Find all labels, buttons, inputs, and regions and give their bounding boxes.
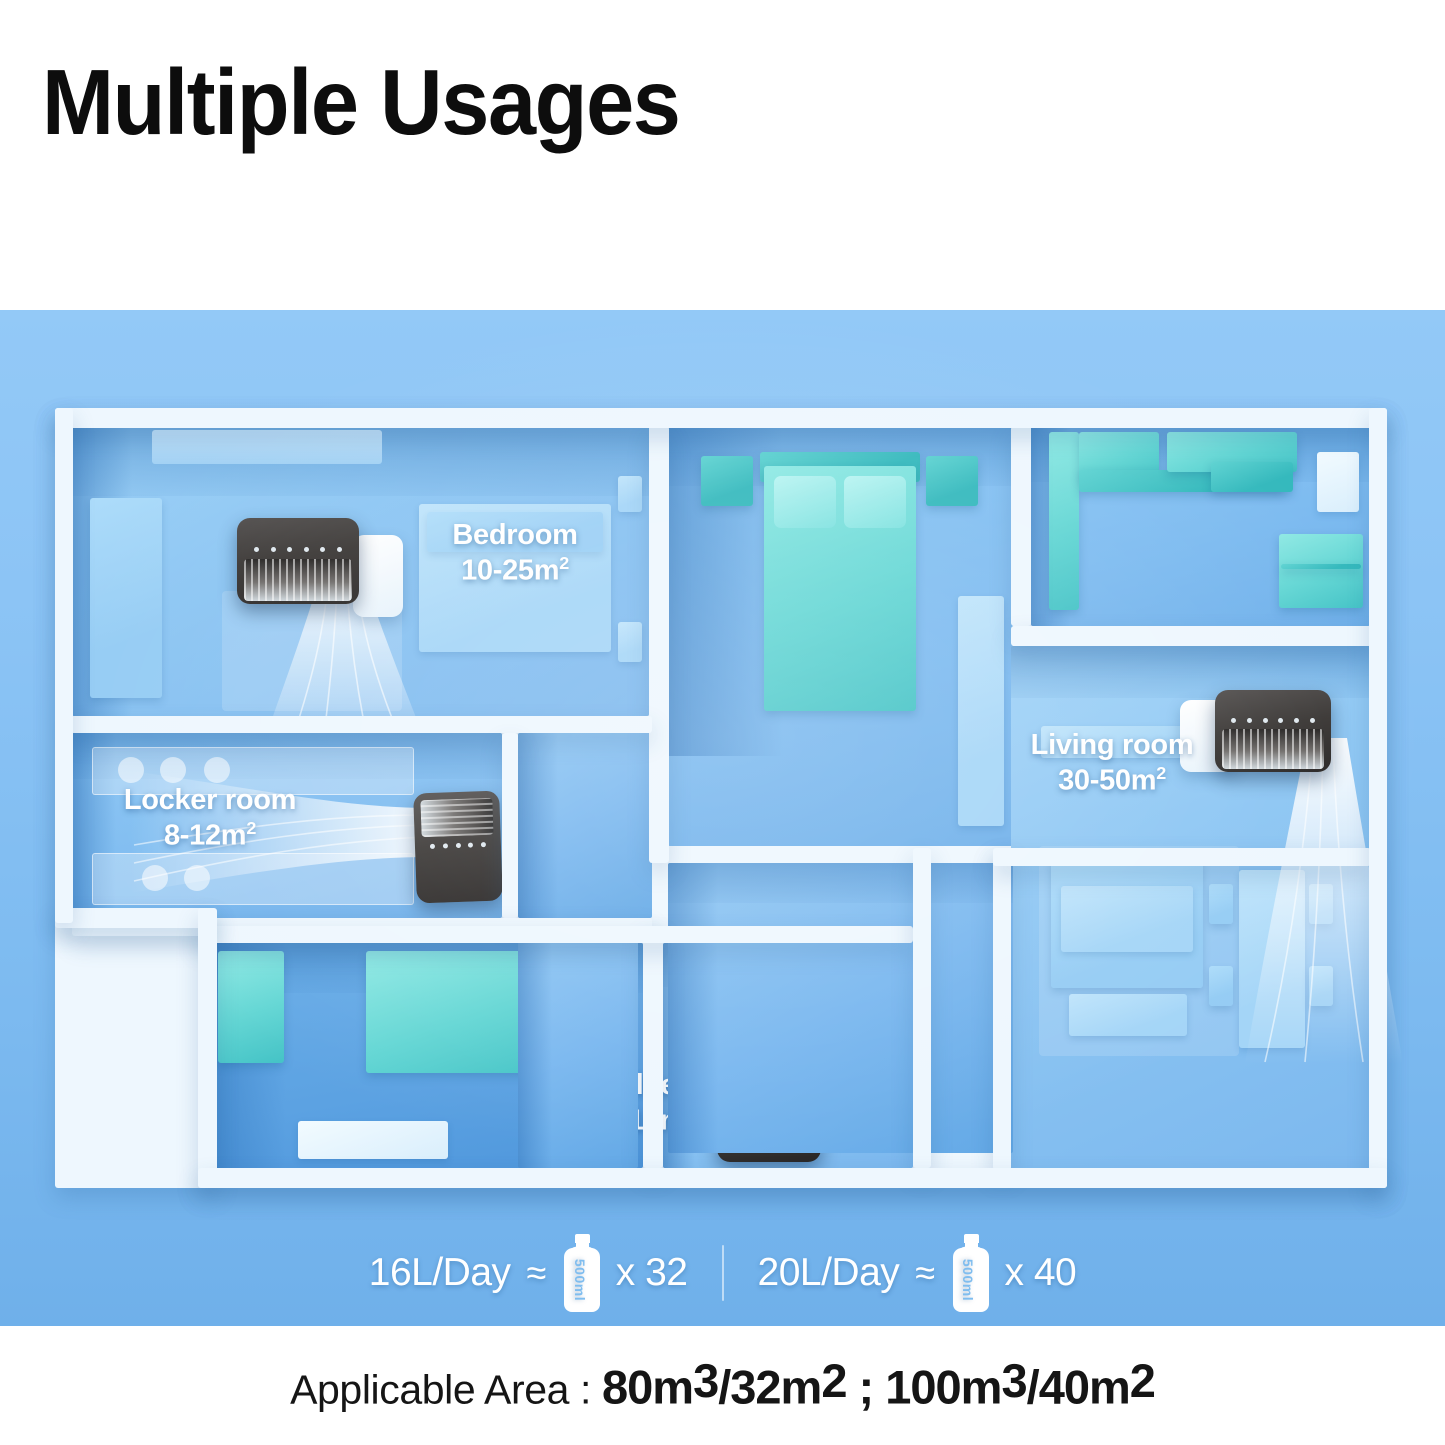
wall-divider (993, 848, 1371, 866)
room-name-living-room: Living room (1007, 728, 1217, 763)
applicable-area-caption: Applicable Area : 80m3/32m2 ; 100m3/40m2 (0, 1353, 1445, 1414)
wall-divider (643, 926, 663, 1168)
room-kitchen-floor (1031, 426, 1370, 626)
wall-divider (72, 716, 652, 733)
furniture-wardrobe (218, 951, 284, 1063)
wall-divider (198, 926, 913, 943)
room-name-locker-room: Locker room (95, 783, 325, 818)
capacity-item-20l: 20L/Day ≈ 500ml x 40 (758, 1234, 1077, 1312)
bottle-label-wrap: 500ml (951, 1248, 987, 1312)
furniture-pillow (844, 476, 906, 528)
hallway-floor-2 (668, 863, 1013, 1153)
wall-exterior (55, 908, 215, 928)
bottle-label-2: 500ml (961, 1259, 977, 1301)
furniture-wardrobe (958, 596, 1004, 826)
dehumidifier-grille (244, 559, 351, 600)
capacity-divider (722, 1245, 724, 1301)
approx-symbol-1: ≈ (527, 1252, 546, 1294)
bottle-label-wrap: 500ml (562, 1248, 598, 1312)
caption-lead: Applicable Area : (290, 1366, 602, 1412)
hallway-floor-3 (518, 936, 638, 1168)
room-label-bedroom: Bedroom 10-25m2 (410, 518, 620, 589)
window (1317, 452, 1359, 512)
wall-exterior (198, 908, 217, 1188)
bottle-icon: 500ml (951, 1234, 991, 1312)
caption-value-1: 80m (602, 1360, 693, 1413)
furniture-locker-shelf (92, 853, 414, 905)
caption-value-2: 32m (730, 1360, 821, 1413)
furniture-coffee-table (1069, 994, 1187, 1036)
dehumidifier-grille (1222, 729, 1324, 768)
furniture-wardrobe (90, 498, 162, 698)
dehumidifier-control-panel (254, 544, 342, 556)
caption-value-1-exp: 3 (693, 1354, 718, 1407)
room-area-living-room: 30-50m (1058, 765, 1156, 797)
wall-exterior-right (1369, 408, 1387, 1188)
marketing-slide: Multiple Usages (0, 0, 1445, 1445)
furniture-refrigerator (1279, 534, 1363, 608)
hallway-floor (518, 733, 652, 918)
floor-plan: Bedroom 10-25m2 (55, 408, 1390, 1188)
dehumidifier-control-panel (430, 839, 485, 852)
caption-value-4-exp: 2 (1130, 1354, 1155, 1407)
furniture-nightstand (701, 456, 753, 506)
room-area-exp-living-room: 2 (1156, 763, 1166, 783)
furniture-pillow (774, 476, 836, 528)
capacity-rate-2: 20L/Day (758, 1251, 900, 1295)
dehumidifier-bedroom (237, 518, 359, 604)
caption-separator-2: / (1027, 1360, 1039, 1413)
page-title: Multiple Usages (42, 56, 680, 149)
furniture-chair (1309, 884, 1333, 924)
room-area-exp-bedroom: 2 (559, 553, 569, 573)
dehumidifier-control-panel (1231, 715, 1315, 726)
caption-value-3: 100m (885, 1360, 1001, 1413)
room-area-bedroom: 10-25m (461, 555, 559, 587)
approx-symbol-2: ≈ (915, 1252, 934, 1294)
capacity-multiplier-2: x 40 (1005, 1251, 1077, 1295)
dehumidifier-grille (420, 797, 494, 837)
floorplan-hero-panel: Bedroom 10-25m2 (0, 310, 1445, 1326)
capacity-item-16l: 16L/Day ≈ 500ml x 32 (369, 1234, 688, 1312)
furniture-dining-table (1239, 870, 1305, 1048)
wall-exterior-bottom (198, 1168, 1387, 1188)
furniture-nightstand (926, 456, 978, 506)
wall-divider (502, 733, 518, 918)
caption-semicolon: ; (846, 1360, 885, 1413)
furniture-counter (1049, 432, 1079, 610)
furniture-counter (1211, 462, 1293, 492)
wall-divider (1011, 626, 1371, 646)
furniture-chair (1209, 966, 1233, 1006)
room-area-locker-room: 8-12m (164, 820, 246, 852)
wall-divider (1011, 426, 1031, 626)
bottle-icon: 500ml (562, 1234, 602, 1312)
capacity-rate-1: 16L/Day (369, 1251, 511, 1295)
caption-value-4: 40m (1039, 1360, 1130, 1413)
room-master-bedroom-floor (668, 426, 1013, 846)
furniture-chair (1209, 884, 1233, 924)
room-name-bedroom: Bedroom (410, 518, 620, 553)
dehumidifier-locker (413, 791, 503, 904)
wall-divider (649, 426, 669, 863)
room-area-exp-locker-room: 2 (246, 818, 256, 838)
wall-exterior-top (55, 408, 1387, 428)
wall-divider (993, 848, 1011, 1170)
room-label-living-room: Living room 30-50m2 (1007, 728, 1217, 799)
furniture-chair (1309, 966, 1333, 1006)
dehumidifier-living (1215, 690, 1331, 772)
caption-separator-1: / (718, 1360, 730, 1413)
dehumidifier-body-bedroom (353, 535, 403, 617)
caption-value-3-exp: 3 (1001, 1354, 1026, 1407)
capacity-multiplier-1: x 32 (616, 1251, 688, 1295)
wall-divider (913, 848, 931, 1168)
wall-exterior-left (55, 408, 73, 923)
room-label-locker-room: Locker room 8-12m2 (95, 783, 325, 854)
capacity-row: 16L/Day ≈ 500ml x 32 20L/Day ≈ (0, 1225, 1445, 1321)
caption-value-2-exp: 2 (821, 1354, 846, 1407)
bottle-label-1: 500ml (572, 1259, 588, 1301)
